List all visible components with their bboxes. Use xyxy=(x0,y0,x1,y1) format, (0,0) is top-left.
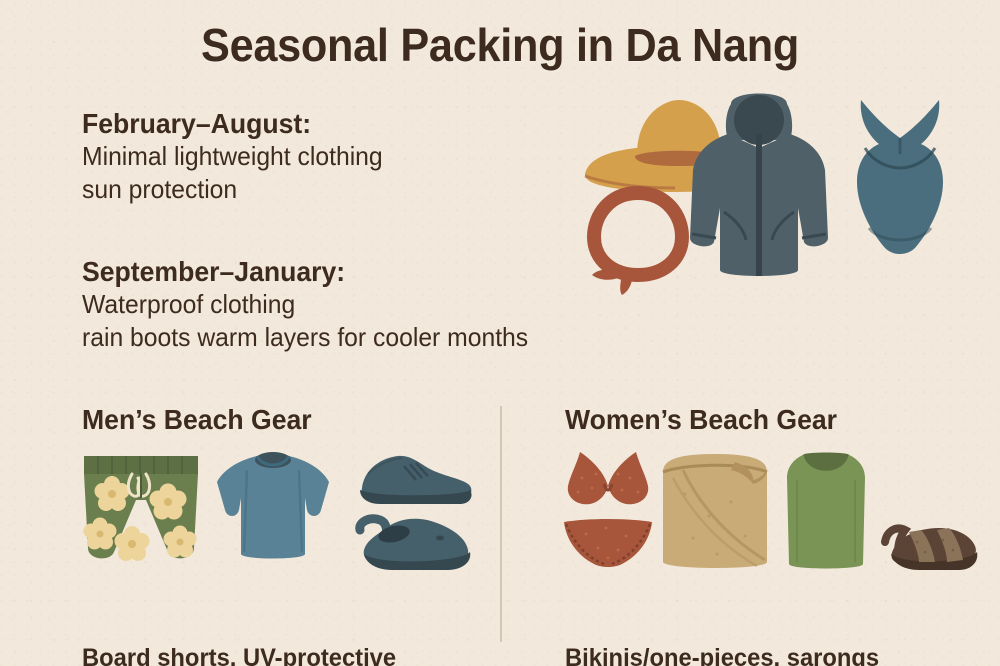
board-shorts-icon xyxy=(76,448,206,570)
hooded-raincoat-icon xyxy=(688,88,830,286)
season-block-feb-aug: February–August: Minimal lightweight clo… xyxy=(82,108,398,206)
tank-top-icon xyxy=(783,450,869,572)
season-line: Waterproof clothing xyxy=(82,288,528,321)
season-line: rain boots warm layers for cooler months xyxy=(82,321,528,354)
mens-section-title: Men’s Beach Gear xyxy=(82,404,312,436)
one-piece-swimsuit-icon xyxy=(845,96,955,261)
womens-section-title: Women’s Beach Gear xyxy=(565,404,837,436)
womens-caption: Bikinis/one-pieces, sarongs Beach dresse… xyxy=(565,578,964,666)
season-line: Minimal lightweight clothing xyxy=(82,140,383,173)
scarf-icon xyxy=(578,183,698,298)
sarong-icon xyxy=(657,450,775,574)
water-clog-icon xyxy=(344,508,476,574)
season-heading: September–January: xyxy=(82,256,528,288)
sandal-icon xyxy=(875,508,981,572)
caption-line: Bikinis/one-pieces, sarongs xyxy=(565,642,964,666)
bikini-top-icon xyxy=(560,450,656,510)
column-divider xyxy=(500,406,502,642)
infographic-canvas: Seasonal Packing in Da Nang February–Aug… xyxy=(0,0,1000,666)
season-line: sun protection xyxy=(82,173,383,206)
bikini-bottom-icon xyxy=(560,518,656,572)
mens-caption: Board shorts, UV-protective water shoes,… xyxy=(82,578,419,666)
season-heading: February–August: xyxy=(82,108,383,140)
caption-line: Board shorts, UV-protective xyxy=(82,642,419,666)
long-sleeve-shirt-icon xyxy=(213,448,333,566)
page-title: Seasonal Packing in Da Nang xyxy=(30,18,970,72)
water-shoe-icon xyxy=(348,448,476,510)
season-block-sep-jan: September–January: Waterproof clothing r… xyxy=(82,256,552,354)
